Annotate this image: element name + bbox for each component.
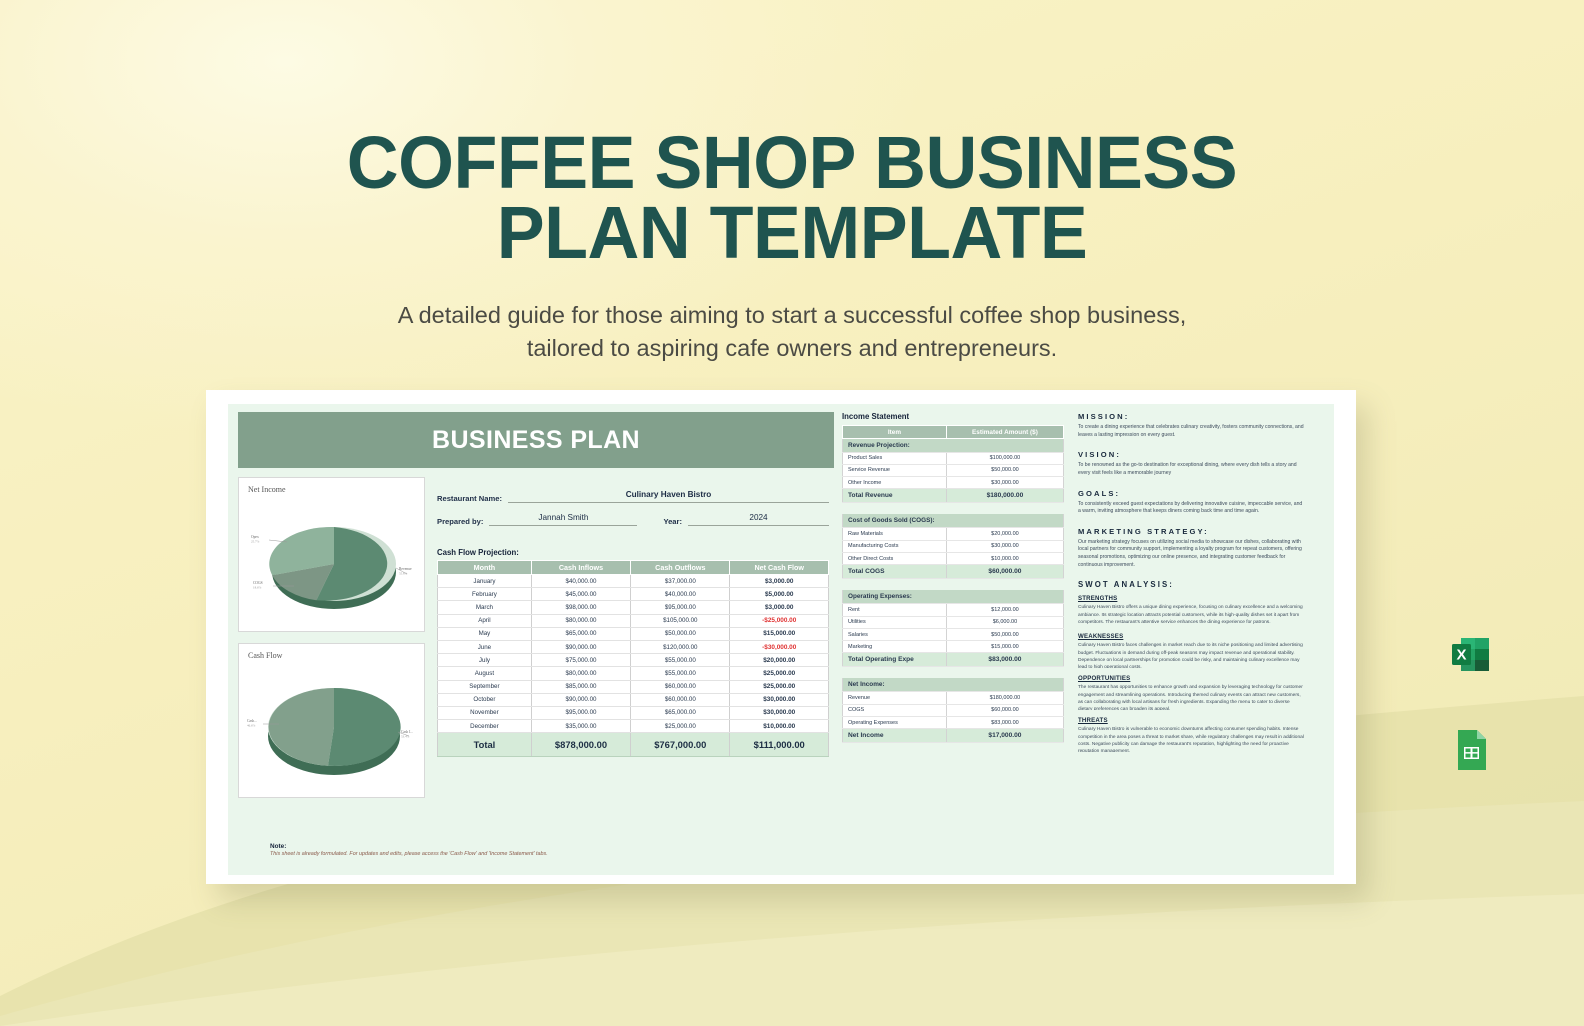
cell-outflow: $120,000.00: [631, 640, 730, 653]
cash-flow-header-row: Month Cash Inflows Cash Outflows Net Cas…: [438, 561, 829, 575]
cell-month: October: [438, 693, 532, 706]
cell-item: Other Income: [843, 477, 947, 489]
table-row[interactable]: February$45,000.00$40,000.00$5,000.00: [438, 588, 829, 601]
swot-heading: OPPORTUNITIES: [1078, 675, 1304, 682]
cell-net: $3,000.00: [730, 575, 829, 588]
cell-net: $25,000.00: [730, 667, 829, 680]
table-row[interactable]: Service Revenue$50,000.00: [843, 464, 1064, 476]
group-label: Operating Expenses:: [843, 590, 1064, 604]
narrative-body: To be renowned as the go-to destination …: [1078, 462, 1304, 477]
cell-month: April: [438, 614, 532, 627]
group-label: Revenue Projection:: [843, 439, 1064, 453]
excel-icon[interactable]: X: [1447, 632, 1495, 680]
group-label: Cost of Goods Sold (COGS):: [843, 514, 1064, 528]
cash-flow-body: January$40,000.00$37,000.00$3,000.00Febr…: [438, 575, 829, 757]
page-subtitle: A detailed guide for those aiming to sta…: [397, 299, 1187, 366]
group-header-row: Operating Expenses:: [843, 590, 1064, 604]
cell-outflow: $55,000.00: [631, 654, 730, 667]
cell-item: Other Direct Costs: [843, 552, 947, 564]
cash-flow-pie-svg: Cash I... 53.4% Cash... 46.6%: [239, 656, 426, 796]
summary-row: Total COGS$60,000.00: [843, 565, 1064, 579]
cell-month: September: [438, 680, 532, 693]
cash-flow-section-label: Cash Flow Projection:: [437, 548, 829, 557]
cell-month: January: [438, 575, 532, 588]
summary-row: Net Income$17,000.00: [843, 729, 1064, 743]
narrative-heading: VISION:: [1078, 450, 1304, 459]
cell-month: November: [438, 706, 532, 719]
group-label: Net Income:: [843, 678, 1064, 692]
pie-pct-cash-inflows: 53.4%: [401, 734, 410, 738]
table-row[interactable]: April$80,000.00$105,000.00-$25,000.00: [438, 614, 829, 627]
cell-month: December: [438, 720, 532, 733]
cell-item: Marketing: [843, 641, 947, 653]
cell-item: Raw Materials: [843, 528, 947, 540]
cell-net: $15,000.00: [730, 627, 829, 640]
cash-flow-chart[interactable]: Cash Flow Cash I... 53.4% Cash... 46.6%: [238, 643, 425, 798]
cell-item: Manufacturing Costs: [843, 540, 947, 552]
swot-body: Culinary Haven Bistro offers a unique di…: [1078, 604, 1304, 626]
income-statement-column: Income Statement ItemEstimated Amount ($…: [842, 412, 1064, 871]
restaurant-name-field[interactable]: Culinary Haven Bistro: [508, 490, 829, 503]
table-row[interactable]: October$90,000.00$60,000.00$30,000.00: [438, 693, 829, 706]
income-statement-label: Income Statement: [842, 412, 1064, 421]
table-row[interactable]: Other Income$30,000.00: [843, 477, 1064, 489]
table-row[interactable]: December$35,000.00$25,000.00$10,000.00: [438, 720, 829, 733]
cell-summary-amount: $83,000.00: [946, 653, 1063, 667]
pie-label-cogs: COGS: [253, 581, 263, 585]
table-row[interactable]: Revenue$180,000.00: [843, 692, 1064, 704]
swot-body: Culinary Haven Bistro faces challenges i…: [1078, 642, 1304, 668]
cell-inflow: $65,000.00: [531, 627, 630, 640]
note-label: Note:: [270, 843, 548, 850]
cell-outflow: $60,000.00: [631, 680, 730, 693]
total-cell-net: $111,000.00: [730, 733, 829, 757]
cell-month: February: [438, 588, 532, 601]
group-header-row: Net Income:: [843, 678, 1064, 692]
cell-amount: $100,000.00: [946, 452, 1063, 464]
table-row[interactable]: September$85,000.00$60,000.00$25,000.00: [438, 680, 829, 693]
table-row[interactable]: Other Direct Costs$10,000.00: [843, 552, 1064, 564]
table-row[interactable]: June$90,000.00$120,000.00-$30,000.00: [438, 640, 829, 653]
group-header-row: Cost of Goods Sold (COGS):: [843, 514, 1064, 528]
pie-pct-revenue: 55.8%: [399, 572, 408, 576]
cell-month: March: [438, 601, 532, 614]
prepared-by-label: Prepared by:: [437, 517, 483, 526]
total-cell-outflow: $767,000.00: [631, 733, 730, 757]
cell-inflow: $45,000.00: [531, 588, 630, 601]
cell-summary-label: Net Income: [843, 729, 947, 743]
prepared-by-row: Prepared by: Jannah Smith Year: 2024: [437, 513, 829, 526]
forms-column: Restaurant Name: Culinary Haven Bistro P…: [437, 477, 829, 809]
swot-heading: THREATS: [1078, 717, 1304, 724]
cell-inflow: $35,000.00: [531, 720, 630, 733]
cell-amount: $50,000.00: [946, 628, 1063, 640]
cash-flow-total-row: Total$878,000.00$767,000.00$111,000.00: [438, 733, 829, 757]
pie-pct-cogs: 18.6%: [253, 586, 262, 590]
cash-flow-col-outflows: Cash Outflows: [631, 561, 730, 575]
narrative-body: To consistently exceed guest expectation…: [1078, 501, 1304, 516]
narrative-heading: MARKETING STRATEGY:: [1078, 527, 1304, 536]
income-statement-table[interactable]: Operating Expenses:Rent$12,000.00Utiliti…: [842, 590, 1064, 667]
table-row[interactable]: Salaries$50,000.00: [843, 628, 1064, 640]
income-statement-table[interactable]: Cost of Goods Sold (COGS):Raw Materials$…: [842, 514, 1064, 579]
cell-month: August: [438, 667, 532, 680]
total-cell-label: Total: [438, 733, 532, 757]
narrative-sections: MISSION:To create a dining experience th…: [1078, 412, 1304, 569]
pie-pct-cash-outflows: 46.6%: [247, 723, 256, 727]
cell-amount: $10,000.00: [946, 552, 1063, 564]
template-preview-card[interactable]: BUSINESS PLAN Net Income: [206, 390, 1356, 884]
cell-item: Service Revenue: [843, 464, 947, 476]
cash-flow-col-month: Month: [438, 561, 532, 575]
summary-row: Total Operating Expe$83,000.00: [843, 653, 1064, 667]
cell-net: -$30,000.00: [730, 640, 829, 653]
sheet-left-column: BUSINESS PLAN Net Income: [238, 412, 834, 871]
cell-amount: $20,000.00: [946, 528, 1063, 540]
income-statement-panels: ItemEstimated Amount ($)Revenue Projecti…: [842, 425, 1064, 743]
swot-title: SWOT ANALYSIS:: [1078, 580, 1304, 589]
cell-amount: $30,000.00: [946, 477, 1063, 489]
page-title-line-1: COFFEE SHOP BUSINESS: [24, 128, 1560, 198]
year-field[interactable]: 2024: [688, 513, 829, 526]
swot-heading: STRENGTHS: [1078, 595, 1304, 602]
table-row[interactable]: May$65,000.00$50,000.00$15,000.00: [438, 627, 829, 640]
cell-net: -$25,000.00: [730, 614, 829, 627]
restaurant-name-row: Restaurant Name: Culinary Haven Bistro: [437, 490, 829, 503]
cell-net: $10,000.00: [730, 720, 829, 733]
cell-month: July: [438, 654, 532, 667]
cell-summary-amount: $180,000.00: [946, 489, 1063, 503]
cell-item: Rent: [843, 604, 947, 616]
swot-sections: STRENGTHSCulinary Haven Bistro offers a …: [1078, 595, 1304, 752]
page-title: COFFEE SHOP BUSINESS PLAN TEMPLATE: [24, 128, 1560, 269]
swot-body: Culinary Haven Bistro is vulnerable to e…: [1078, 726, 1304, 752]
note-block: Note: This sheet is already formulated. …: [270, 843, 548, 857]
cell-item: Utilities: [843, 616, 947, 628]
sheet-banner-title: BUSINESS PLAN: [238, 412, 834, 468]
cell-summary-amount: $17,000.00: [946, 729, 1063, 743]
spreadsheet-surface: BUSINESS PLAN Net Income: [228, 404, 1334, 875]
net-income-chart[interactable]: Net Income Revenue: [238, 477, 425, 632]
cell-net: $30,000.00: [730, 693, 829, 706]
is-col-item: Item: [843, 426, 947, 439]
cell-amount: $12,000.00: [946, 604, 1063, 616]
cell-summary-label: Total Revenue: [843, 489, 947, 503]
cell-amount: $50,000.00: [946, 464, 1063, 476]
cell-amount: $180,000.00: [946, 692, 1063, 704]
charts-column: Net Income Revenue: [238, 477, 425, 809]
google-sheets-icon[interactable]: [1447, 726, 1495, 774]
narrative-body: To create a dining experience that celeb…: [1078, 424, 1304, 439]
table-row[interactable]: Raw Materials$20,000.00: [843, 528, 1064, 540]
cash-flow-col-inflows: Cash Inflows: [531, 561, 630, 575]
narrative-heading: GOALS:: [1078, 489, 1304, 498]
cell-inflow: $80,000.00: [531, 667, 630, 680]
pie-label-cash-outflows: Cash...: [247, 719, 257, 723]
cell-outflow: $95,000.00: [631, 601, 730, 614]
table-row[interactable]: Utilities$6,000.00: [843, 616, 1064, 628]
cell-amount: $83,000.00: [946, 717, 1063, 729]
cell-amount: $6,000.00: [946, 616, 1063, 628]
cell-outflow: $55,000.00: [631, 667, 730, 680]
cell-net: $3,000.00: [730, 601, 829, 614]
year-label: Year:: [663, 517, 682, 526]
net-income-pie-svg: Revenue 55.8% COGS 18.6% Opex 25.7%: [239, 490, 426, 630]
cell-amount: $60,000.00: [946, 704, 1063, 716]
cell-amount: $30,000.00: [946, 540, 1063, 552]
pie-label-revenue: Revenue: [399, 567, 412, 571]
cell-month: June: [438, 640, 532, 653]
table-row[interactable]: July$75,000.00$55,000.00$20,000.00: [438, 654, 829, 667]
cell-outflow: $50,000.00: [631, 627, 730, 640]
cell-item: Revenue: [843, 692, 947, 704]
cell-inflow: $75,000.00: [531, 654, 630, 667]
cell-summary-label: Total COGS: [843, 565, 947, 579]
cell-outflow: $105,000.00: [631, 614, 730, 627]
swot-body: The restaurant has opportunities to enha…: [1078, 684, 1304, 710]
table-row[interactable]: November$95,000.00$65,000.00$30,000.00: [438, 706, 829, 719]
summary-row: Total Revenue$180,000.00: [843, 489, 1064, 503]
cash-flow-col-net: Net Cash Flow: [730, 561, 829, 575]
table-row[interactable]: Rent$12,000.00: [843, 604, 1064, 616]
prepared-by-field[interactable]: Jannah Smith: [489, 513, 637, 526]
cell-item: Operating Expenses: [843, 717, 947, 729]
cell-amount: $15,000.00: [946, 641, 1063, 653]
table-row[interactable]: Product Sales$100,000.00: [843, 452, 1064, 464]
income-statement-table[interactable]: ItemEstimated Amount ($)Revenue Projecti…: [842, 425, 1064, 503]
is-col-amount: Estimated Amount ($): [946, 426, 1063, 439]
cell-outflow: $40,000.00: [631, 588, 730, 601]
cell-inflow: $80,000.00: [531, 614, 630, 627]
cell-inflow: $90,000.00: [531, 693, 630, 706]
cash-flow-table[interactable]: Month Cash Inflows Cash Outflows Net Cas…: [437, 560, 829, 757]
cell-inflow: $90,000.00: [531, 640, 630, 653]
narrative-heading: MISSION:: [1078, 412, 1304, 421]
table-row[interactable]: August$80,000.00$55,000.00$25,000.00: [438, 667, 829, 680]
narrative-column: MISSION:To create a dining experience th…: [1072, 412, 1304, 871]
pie-label-opex: Opex: [251, 535, 259, 539]
table-row[interactable]: January$40,000.00$37,000.00$3,000.00: [438, 575, 829, 588]
swot-heading: WEAKNESSES: [1078, 633, 1304, 640]
table-row[interactable]: Manufacturing Costs$30,000.00: [843, 540, 1064, 552]
table-row[interactable]: Operating Expenses$83,000.00: [843, 717, 1064, 729]
cell-item: COGS: [843, 704, 947, 716]
cell-item: Product Sales: [843, 452, 947, 464]
svg-text:X: X: [1456, 647, 1466, 664]
page-title-line-2: PLAN TEMPLATE: [24, 198, 1560, 268]
note-text: This sheet is already formulated. For up…: [270, 851, 548, 857]
cell-outflow: $60,000.00: [631, 693, 730, 706]
income-statement-table[interactable]: Net Income:Revenue$180,000.00COGS$60,000…: [842, 678, 1064, 743]
cell-summary-amount: $60,000.00: [946, 565, 1063, 579]
cell-inflow: $98,000.00: [531, 601, 630, 614]
cell-month: May: [438, 627, 532, 640]
pie-label-cash-inflows: Cash I...: [401, 730, 413, 734]
cell-outflow: $25,000.00: [631, 720, 730, 733]
cell-inflow: $85,000.00: [531, 680, 630, 693]
cell-inflow: $95,000.00: [531, 706, 630, 719]
cell-net: $20,000.00: [730, 654, 829, 667]
pie-pct-opex: 25.7%: [251, 540, 260, 544]
restaurant-name-label: Restaurant Name:: [437, 494, 502, 503]
income-statement-header-row: ItemEstimated Amount ($): [843, 426, 1064, 439]
cell-net: $5,000.00: [730, 588, 829, 601]
hero-title-block: COFFEE SHOP BUSINESS PLAN TEMPLATE A det…: [0, 128, 1584, 365]
background-wave-lower: [0, 876, 1584, 1026]
cell-net: $30,000.00: [730, 706, 829, 719]
total-cell-inflow: $878,000.00: [531, 733, 630, 757]
cell-inflow: $40,000.00: [531, 575, 630, 588]
narrative-body: Our marketing strategy focuses on utiliz…: [1078, 539, 1304, 570]
group-header-row: Revenue Projection:: [843, 439, 1064, 453]
table-row[interactable]: COGS$60,000.00: [843, 704, 1064, 716]
cell-item: Salaries: [843, 628, 947, 640]
table-row[interactable]: March$98,000.00$95,000.00$3,000.00: [438, 601, 829, 614]
table-row[interactable]: Marketing$15,000.00: [843, 641, 1064, 653]
cell-summary-label: Total Operating Expe: [843, 653, 947, 667]
cell-net: $25,000.00: [730, 680, 829, 693]
cell-outflow: $65,000.00: [631, 706, 730, 719]
cell-outflow: $37,000.00: [631, 575, 730, 588]
